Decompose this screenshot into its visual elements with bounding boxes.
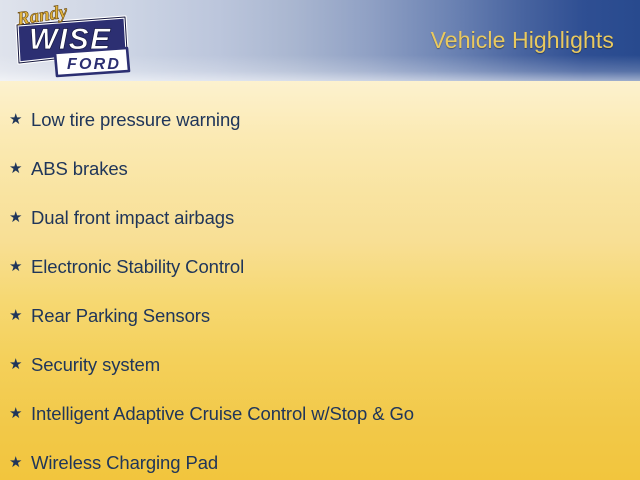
highlight-label: Rear Parking Sensors	[31, 305, 210, 327]
star-bullet-icon: ★	[9, 357, 31, 372]
list-item: ★ Intelligent Adaptive Cruise Control w/…	[0, 389, 640, 438]
list-item: ★ Low tire pressure warning	[0, 95, 640, 144]
list-item: ★ Dual front impact airbags	[0, 193, 640, 242]
highlight-label: Wireless Charging Pad	[31, 452, 218, 474]
star-bullet-icon: ★	[9, 406, 31, 421]
list-item: ★ Wireless Charging Pad	[0, 438, 640, 480]
header-band: WISE FORD Randy Vehicle Highlights	[0, 0, 640, 81]
star-bullet-icon: ★	[9, 308, 31, 323]
highlight-label: Electronic Stability Control	[31, 256, 244, 278]
highlight-label: Low tire pressure warning	[31, 109, 240, 131]
highlight-label: ABS brakes	[31, 158, 128, 180]
star-bullet-icon: ★	[9, 210, 31, 225]
list-item: ★ Security system	[0, 340, 640, 389]
vehicle-highlights-list: ★ Low tire pressure warning ★ ABS brakes…	[0, 81, 640, 480]
highlight-label: Dual front impact airbags	[31, 207, 234, 229]
star-bullet-icon: ★	[9, 112, 31, 127]
star-bullet-icon: ★	[9, 161, 31, 176]
dealer-logo-icon: WISE FORD Randy	[5, 3, 135, 81]
list-item: ★ Rear Parking Sensors	[0, 291, 640, 340]
star-bullet-icon: ★	[9, 455, 31, 470]
list-item: ★ Electronic Stability Control	[0, 242, 640, 291]
dealer-logo: WISE FORD Randy	[5, 3, 135, 81]
highlight-label: Security system	[31, 354, 160, 376]
vehicle-highlights-slide: WISE FORD Randy Vehicle Highlights ★ Low…	[0, 0, 640, 480]
highlight-label: Intelligent Adaptive Cruise Control w/St…	[31, 403, 414, 425]
svg-text:FORD: FORD	[67, 56, 121, 73]
page-title: Vehicle Highlights	[431, 27, 614, 54]
star-bullet-icon: ★	[9, 259, 31, 274]
list-item: ★ ABS brakes	[0, 144, 640, 193]
